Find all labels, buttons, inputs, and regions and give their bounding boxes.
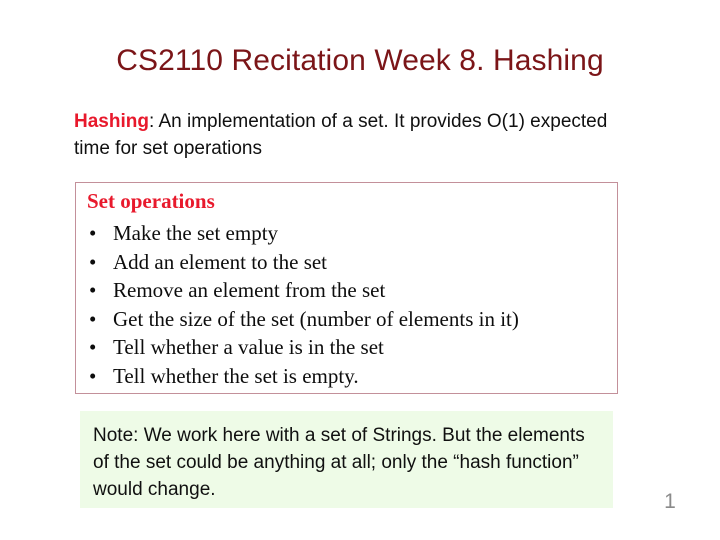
set-operations-box: Set operations • Make the set empty • Ad… <box>75 182 618 394</box>
bullet-icon: • <box>89 362 96 391</box>
slide-canvas: CS2110 Recitation Week 8. Hashing Hashin… <box>0 0 720 540</box>
list-item-label: Tell whether a value is in the set <box>113 335 384 359</box>
list-item-label: Tell whether the set is empty. <box>113 364 359 388</box>
list-item-label: Add an element to the set <box>113 250 327 274</box>
list-item: • Add an element to the set <box>76 248 617 277</box>
bullet-icon: • <box>89 305 96 334</box>
list-item: • Get the size of the set (number of ele… <box>76 305 617 334</box>
set-operations-list: • Make the set empty • Add an element to… <box>76 219 617 390</box>
note-text: Note: We work here with a set of Strings… <box>93 422 598 503</box>
bullet-icon: • <box>89 248 96 277</box>
subtitle-rest: : An implementation of a set. It provide… <box>74 111 607 159</box>
list-item: • Remove an element from the set <box>76 276 617 305</box>
subtitle-keyword: Hashing <box>74 111 149 132</box>
bullet-icon: • <box>89 333 96 362</box>
list-item: • Tell whether a value is in the set <box>76 333 617 362</box>
list-item: • Tell whether the set is empty. <box>76 362 617 391</box>
page-title: CS2110 Recitation Week 8. Hashing <box>0 44 720 78</box>
note-callout-box: Note: We work here with a set of Strings… <box>80 411 613 508</box>
subtitle-paragraph: Hashing: An implementation of a set. It … <box>74 108 634 162</box>
list-item-label: Get the size of the set (number of eleme… <box>113 307 519 331</box>
list-item: • Make the set empty <box>76 219 617 248</box>
list-item-label: Remove an element from the set <box>113 278 385 302</box>
set-operations-heading: Set operations <box>87 189 215 214</box>
bullet-icon: • <box>89 276 96 305</box>
list-item-label: Make the set empty <box>113 221 278 245</box>
page-number: 1 <box>655 490 685 514</box>
bullet-icon: • <box>89 219 96 248</box>
